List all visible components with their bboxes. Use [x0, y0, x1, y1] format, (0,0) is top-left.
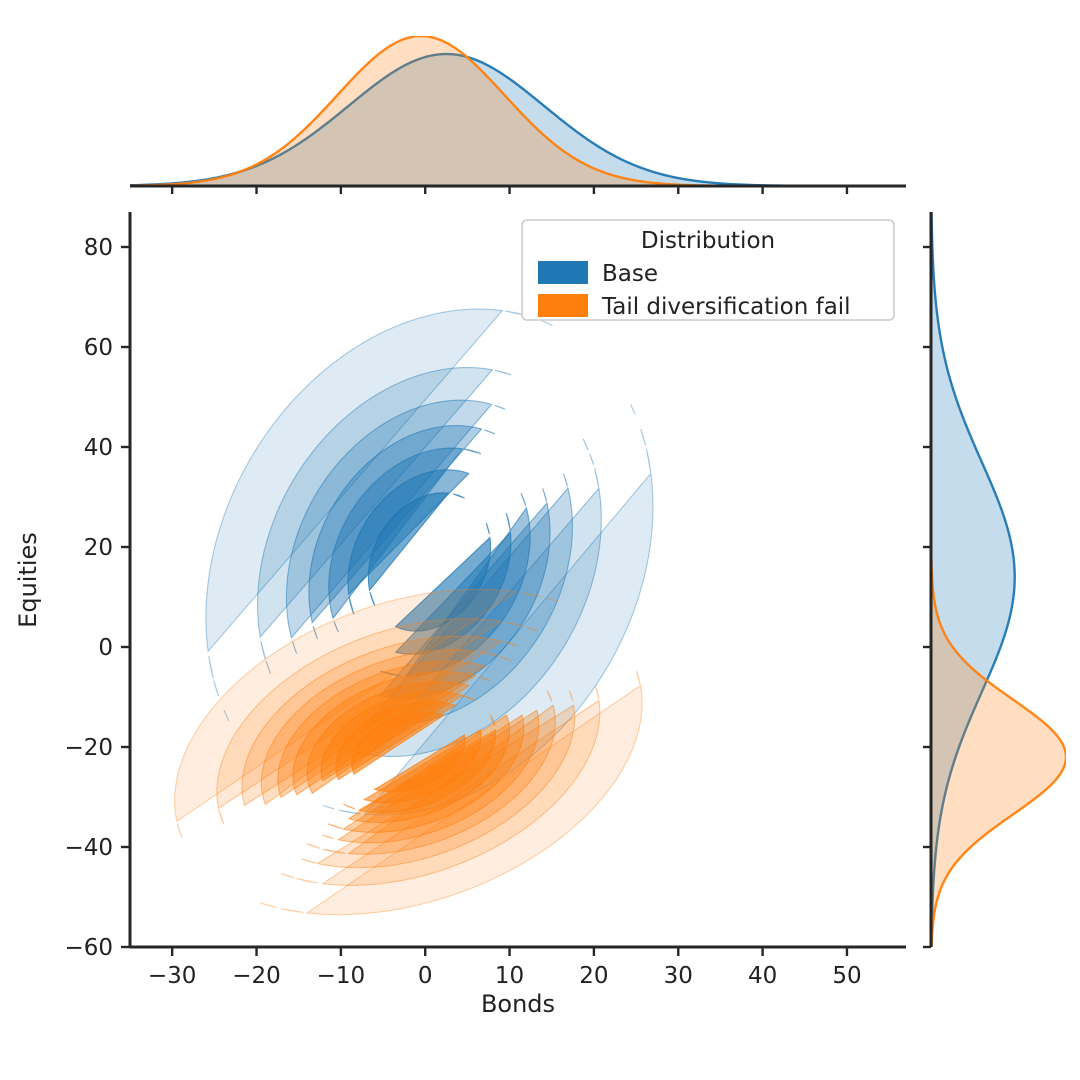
x-tick-label: −20: [232, 963, 281, 989]
x-tick-label: −30: [148, 963, 197, 989]
legend-label-tail-diversification-fail[interactable]: Tail diversification fail: [601, 294, 851, 320]
legend-title: Distribution: [641, 228, 775, 254]
x-axis-ticks: −30−20−1001020304050: [148, 947, 862, 989]
y-tick-label: 80: [84, 235, 113, 261]
x-tick-label: 50: [832, 963, 861, 989]
legend-swatch-base: [538, 261, 588, 284]
jointplot-figure: −30−20−1001020304050 −60−40−20020406080 …: [0, 0, 1080, 1080]
y-tick-label: −20: [64, 735, 113, 761]
legend[interactable]: Distribution Base Tail diversification f…: [522, 220, 894, 320]
legend-label-base[interactable]: Base: [602, 261, 658, 287]
y-tick-label: −60: [64, 935, 113, 961]
y-tick-label: 40: [84, 435, 113, 461]
y-tick-label: −40: [64, 835, 113, 861]
y-tick-label: 0: [98, 635, 113, 661]
legend-swatch-tail-diversification-fail: [538, 294, 588, 317]
y-tick-label: 20: [84, 535, 113, 561]
x-tick-label: 30: [664, 963, 693, 989]
y-axis-label: Equities: [14, 532, 42, 628]
x-axis-label: Bonds: [481, 990, 555, 1018]
jointplot-svg: −30−20−1001020304050 −60−40−20020406080 …: [0, 0, 1080, 1080]
marginal-x-kde: [130, 36, 906, 186]
marginal-x-curve: [130, 36, 906, 186]
x-tick-label: 20: [579, 963, 608, 989]
x-tick-label: 0: [418, 963, 433, 989]
joint-kde-contours: [175, 309, 653, 915]
x-tick-label: −10: [317, 963, 366, 989]
x-tick-label: 40: [748, 963, 777, 989]
x-tick-label: 10: [495, 963, 524, 989]
y-tick-label: 60: [84, 335, 113, 361]
y-axis-ticks: −60−40−20020406080: [64, 235, 130, 961]
marginal-y-kde: [931, 212, 1066, 947]
